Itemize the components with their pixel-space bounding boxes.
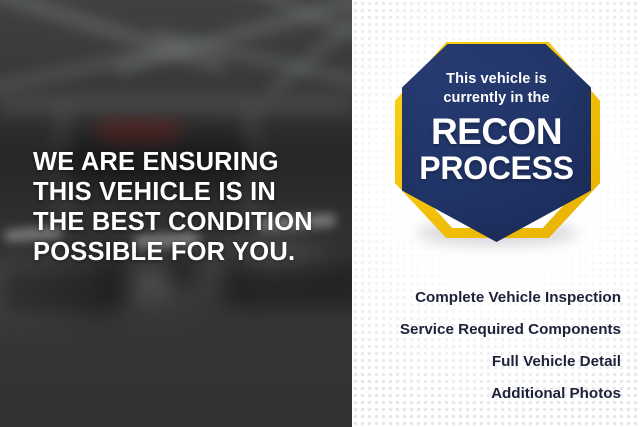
recon-checklist: Complete Vehicle Inspection Service Requ… (369, 282, 621, 410)
recon-checklist-list: Complete Vehicle Inspection Service Requ… (369, 282, 621, 410)
recon-hexagon-badge: This vehicle is currently in the RECON P… (395, 42, 600, 247)
checklist-item-complete-vehicle-inspection: Complete Vehicle Inspection (369, 282, 621, 314)
headline-line-2: THIS VEHICLE IS IN (33, 177, 333, 207)
badge-text-group: This vehicle is currently in the RECON P… (402, 44, 591, 185)
recon-status-card: WE ARE ENSURING THIS VEHICLE IS IN THE B… (0, 0, 640, 427)
checklist-item-service-required-components: Service Required Components (369, 314, 621, 346)
headline-text: WE ARE ENSURING THIS VEHICLE IS IN THE B… (33, 147, 333, 267)
headline-line-1: WE ARE ENSURING (33, 147, 333, 177)
headline-line-3: THE BEST CONDITION (33, 207, 333, 237)
checklist-item-full-vehicle-detail: Full Vehicle Detail (369, 346, 621, 378)
checklist-item-additional-photos: Additional Photos (369, 378, 621, 410)
badge-title-process: PROCESS (402, 151, 591, 185)
badge-intro-line-1: This vehicle is (402, 70, 591, 89)
headline-line-4: POSSIBLE FOR YOU. (33, 237, 333, 267)
info-panel: This vehicle is currently in the RECON P… (352, 0, 640, 427)
badge-intro-line-2: currently in the (402, 89, 591, 108)
badge-title-recon: RECON (402, 113, 591, 151)
workshop-photo-panel: WE ARE ENSURING THIS VEHICLE IS IN THE B… (0, 0, 352, 427)
